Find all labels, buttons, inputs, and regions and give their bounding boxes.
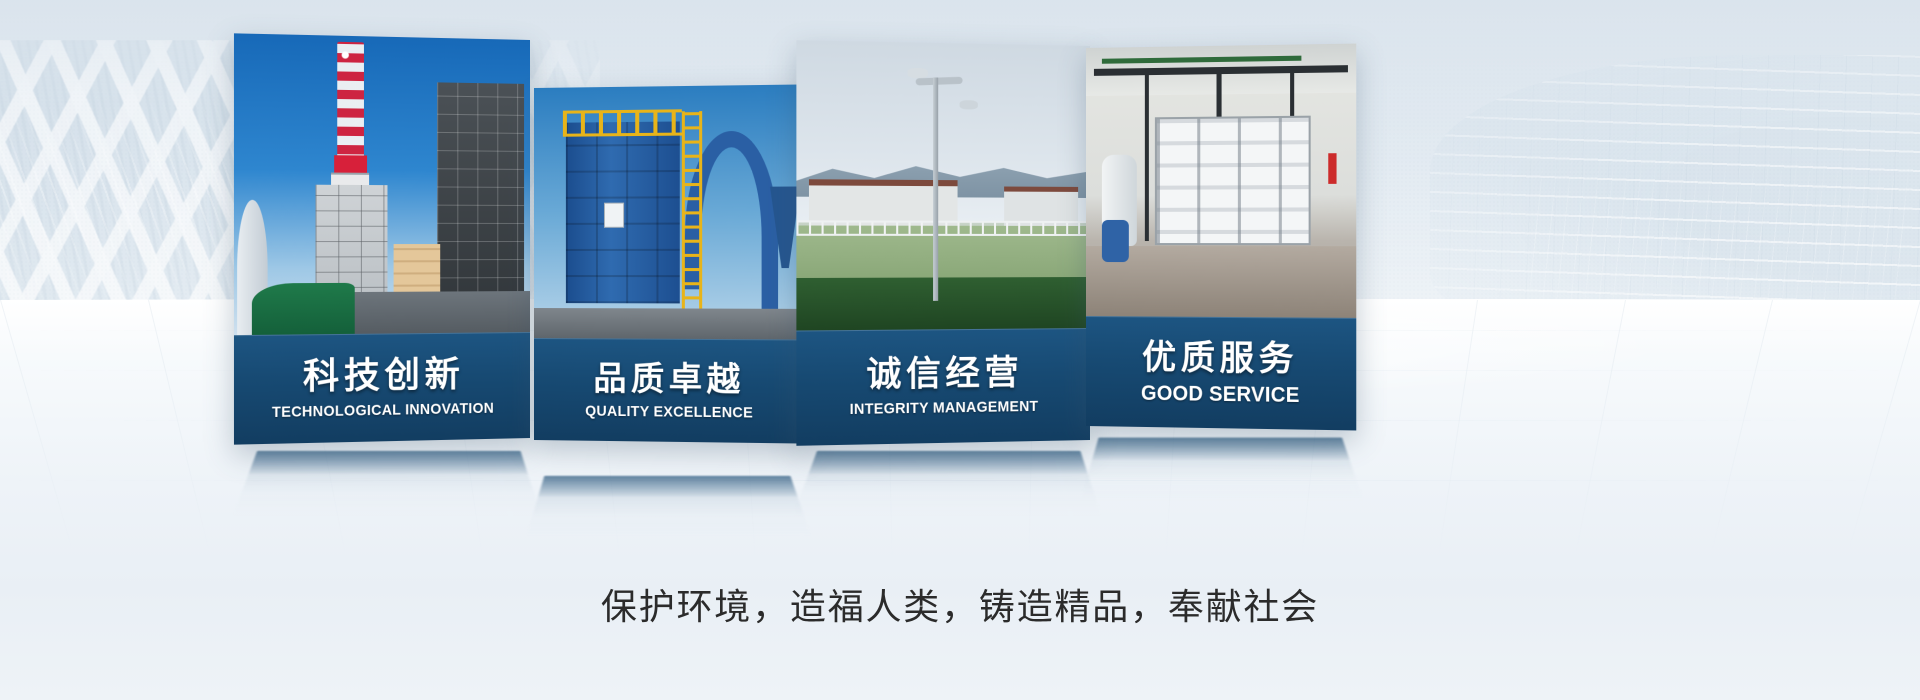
panel-reflection-4: [1080, 438, 1364, 502]
water-treatment-icon: [796, 40, 1090, 330]
panel-photo-1: [234, 33, 530, 335]
panel-title-en-1: TECHNOLOGICAL INNOVATION: [272, 400, 494, 419]
panel-technological-innovation[interactable]: 科技创新 TECHNOLOGICAL INNOVATION: [234, 33, 530, 444]
piping-icon: [1086, 44, 1356, 318]
panel-integrity-management[interactable]: 诚信经营 INTEGRITY MANAGEMENT: [796, 40, 1090, 446]
panel-title-en-4: GOOD SERVICE: [1141, 382, 1300, 405]
panel-photo-4: [1086, 44, 1356, 318]
value-panels-group: 科技创新 TECHNOLOGICAL INNOVATION: [0, 0, 1920, 560]
panel-title-cn-3: 诚信经营: [866, 356, 1023, 393]
panel-title-cn-4: 优质服务: [1142, 340, 1298, 376]
panel-caption-3: 诚信经营 INTEGRITY MANAGEMENT: [796, 328, 1090, 446]
panel-title-en-3: INTEGRITY MANAGEMENT: [850, 399, 1039, 417]
panel-quality-excellence[interactable]: 品质卓越 QUALITY EXCELLENCE: [534, 84, 806, 443]
factory-icon: [234, 33, 530, 335]
dust-collector-icon: [534, 84, 806, 339]
panel-reflection-3: [793, 451, 1101, 516]
banner-tagline: 保护环境，造福人类，铸造精品，奉献社会: [0, 578, 1920, 630]
panel-caption-2: 品质卓越 QUALITY EXCELLENCE: [534, 338, 806, 444]
hero-banner: 科技创新 TECHNOLOGICAL INNOVATION: [0, 0, 1920, 700]
panel-title-cn-2: 品质卓越: [593, 361, 744, 396]
panel-reflection-1: [233, 451, 541, 516]
panel-caption-4: 优质服务 GOOD SERVICE: [1086, 316, 1356, 430]
panel-caption-1: 科技创新 TECHNOLOGICAL INNOVATION: [234, 332, 530, 445]
panel-photo-3: [796, 40, 1090, 330]
panel-reflection-2: [526, 476, 811, 537]
panel-title-cn-1: 科技创新: [303, 356, 464, 394]
panel-title-en-2: QUALITY EXCELLENCE: [585, 403, 753, 420]
panel-good-service[interactable]: 优质服务 GOOD SERVICE: [1086, 44, 1356, 431]
panel-photo-2: [534, 84, 806, 339]
